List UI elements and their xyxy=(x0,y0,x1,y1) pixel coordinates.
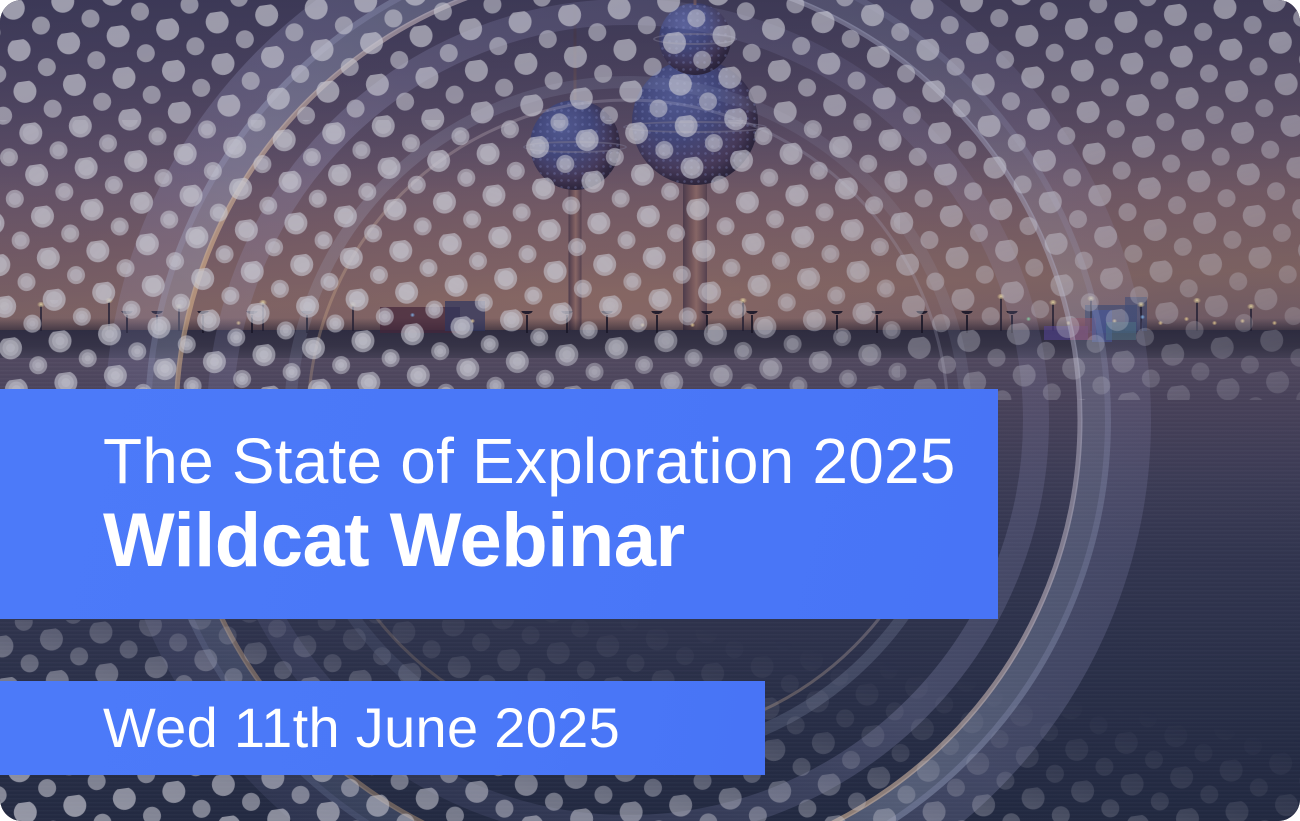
kuwait-tower-main xyxy=(620,0,770,345)
webinar-subtitle: The State of Exploration 2025 xyxy=(103,429,998,494)
kuwait-tower-small xyxy=(515,0,635,345)
webinar-title: Wildcat Webinar xyxy=(103,502,998,580)
waterpark-structure xyxy=(1040,300,1200,346)
webinar-date: Wed 11th June 2025 xyxy=(103,700,620,756)
date-banner: Wed 11th June 2025 xyxy=(0,681,765,775)
webinar-promo-banner: The State of Exploration 2025 Wildcat We… xyxy=(0,0,1300,821)
title-banner: The State of Exploration 2025 Wildcat We… xyxy=(0,389,998,619)
